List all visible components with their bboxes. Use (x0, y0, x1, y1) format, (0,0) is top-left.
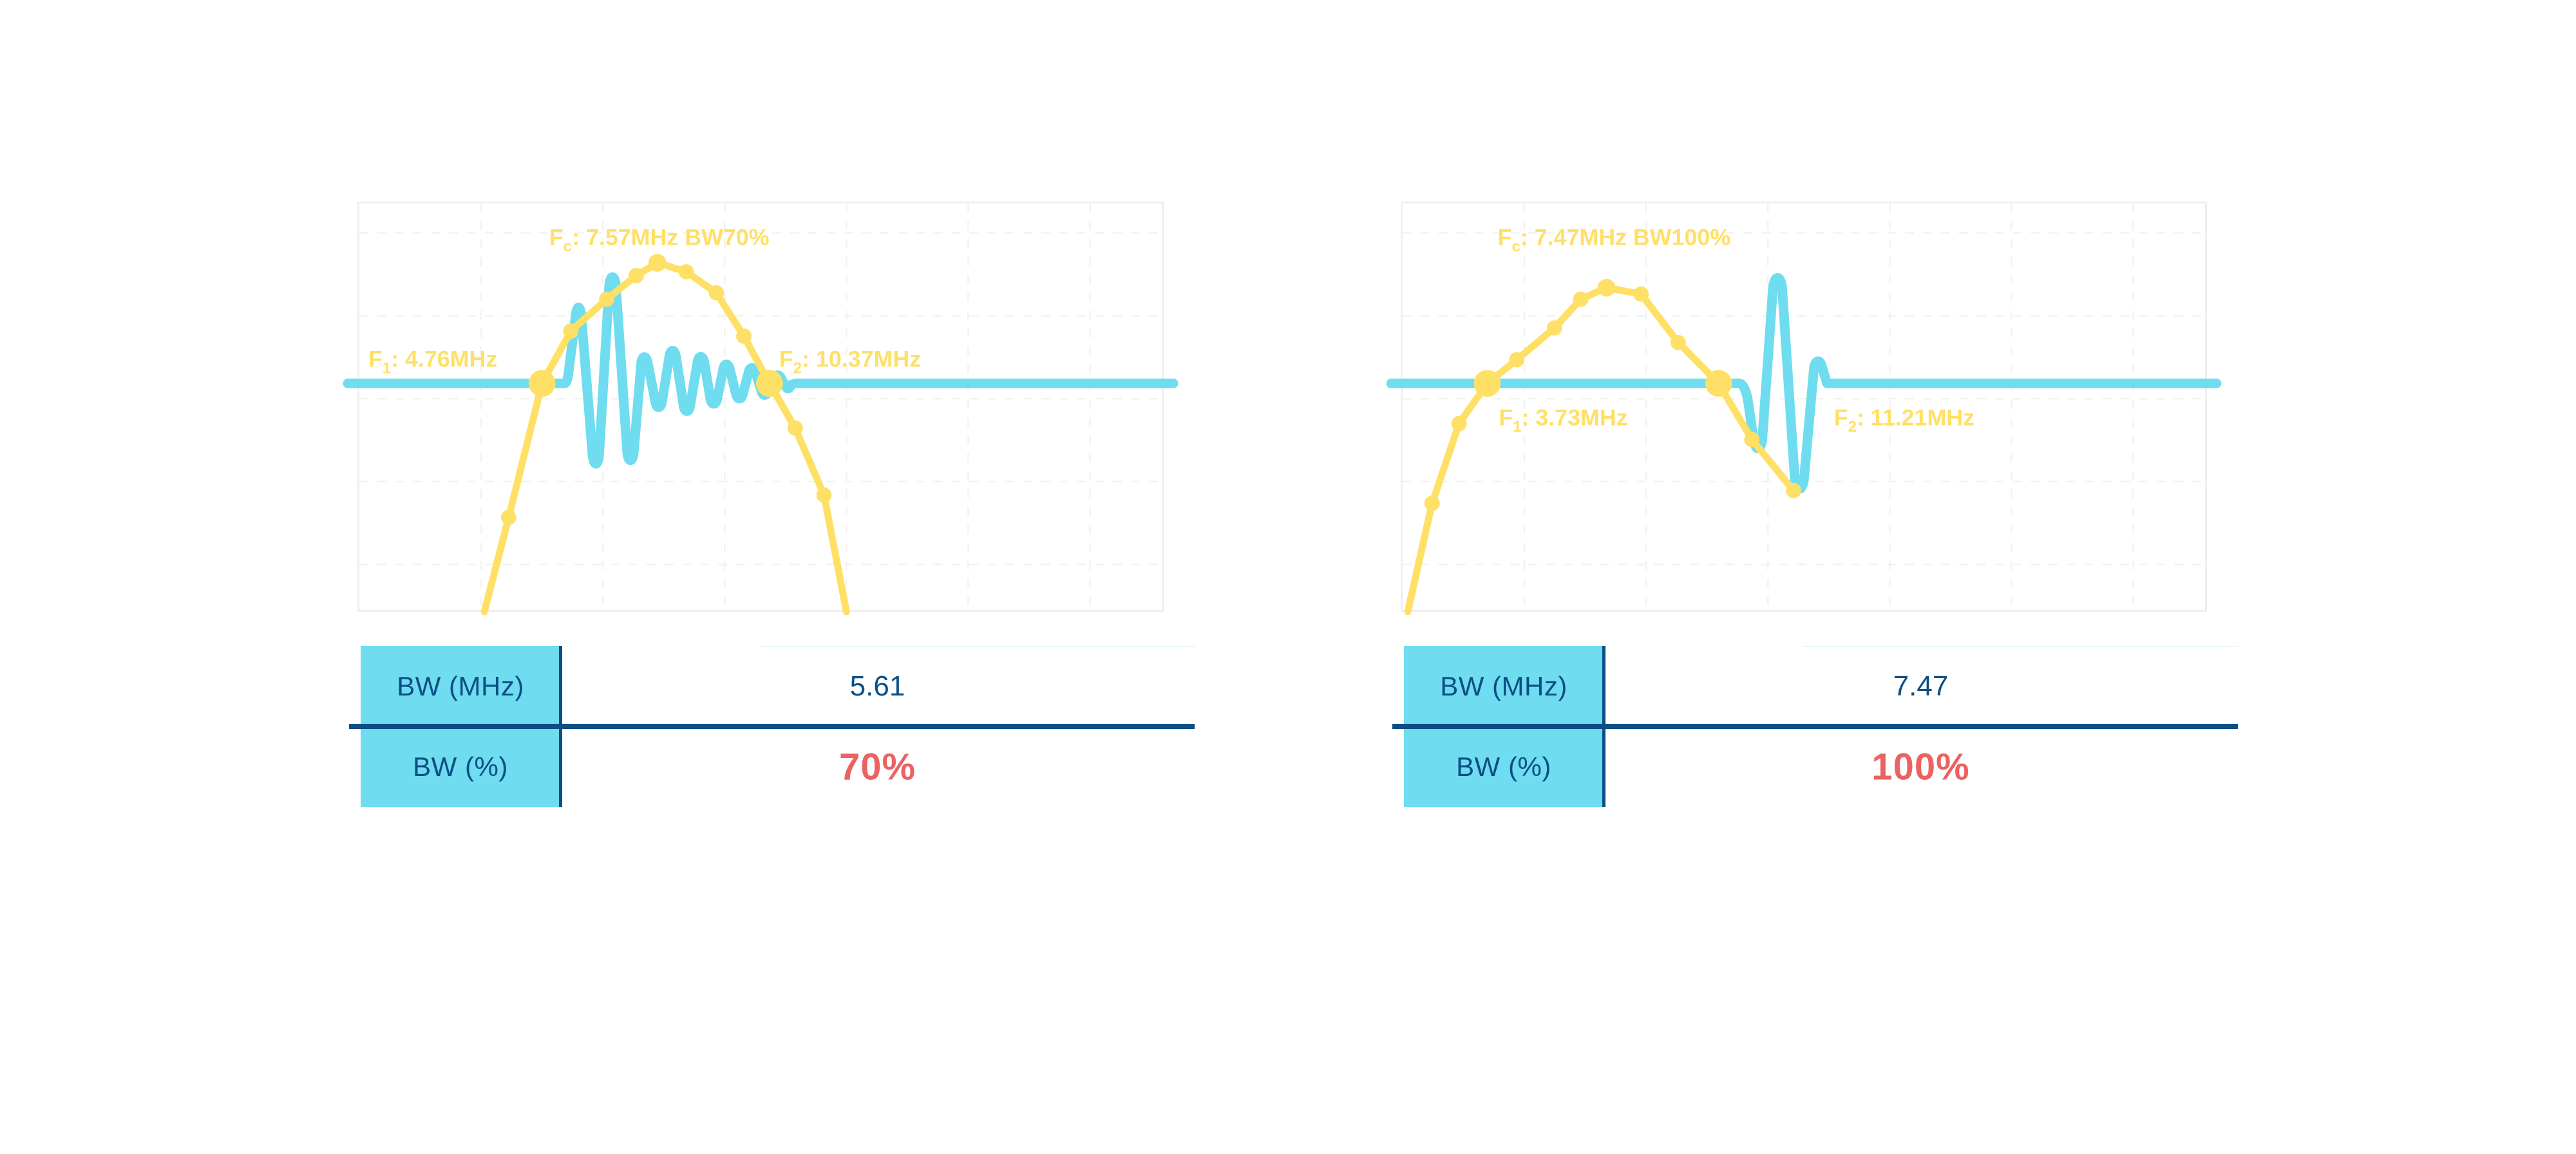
label-f2-right-sub: 2 (1848, 419, 1857, 436)
table-row-divider (1392, 724, 2238, 729)
label-f1-left-sub: 1 (383, 360, 391, 377)
chart-group-right: Fc: 7.47MHz BW100% F1: 3.73MHz F2: 11.21… (1391, 0, 2228, 1154)
marker-f2-left (756, 370, 783, 397)
waveform-trace-right (1391, 278, 2217, 489)
table-top-hairline (1803, 646, 2238, 647)
table-key-label: BW (%) (1404, 752, 1604, 782)
chart-group-left: Fc: 7.57MHz BW70% F1: 4.76MHz F2: 10.37M… (348, 0, 1185, 1154)
label-fc-right-sub: c (1511, 238, 1520, 255)
chart-panel-left: Fc: 7.57MHz BW70% F1: 4.76MHz F2: 10.37M… (357, 202, 1164, 612)
label-fc-left-text: : 7.57MHz BW70% (572, 224, 770, 250)
label-fc-left-sub: c (563, 238, 572, 255)
table-value-cell: 70% (560, 726, 1195, 807)
label-f2-right: F2: 11.21MHz (1834, 405, 1975, 436)
label-f2-left-sub: 2 (793, 360, 802, 377)
table-key-label: BW (%) (361, 752, 560, 782)
label-f1-right-prefix: F (1499, 405, 1513, 431)
label-f2-left-prefix: F (779, 346, 793, 372)
table-row: BW (MHz) 5.61 (361, 646, 1195, 726)
marker-f1-left (529, 370, 556, 397)
bw-table-right: BW (MHz) 7.47 BW (%) 100% (1404, 646, 2238, 807)
figure-canvas: Fc: 7.57MHz BW70% F1: 4.76MHz F2: 10.37M… (0, 0, 2576, 1154)
table-row: BW (MHz) 7.47 (1404, 646, 2238, 726)
table-value-cell: 7.47 (1604, 646, 2238, 726)
bw-table-left: BW (MHz) 5.61 BW (%) 70% (361, 646, 1195, 807)
label-fc-left-prefix: F (549, 224, 563, 250)
table-key-cell: BW (MHz) (1404, 646, 1604, 726)
spectrum-plot-right: Fc: 7.47MHz BW100% F1: 3.73MHz F2: 11.21… (1403, 203, 2205, 610)
label-fc-right-text: : 7.47MHz BW100% (1520, 224, 1730, 250)
spectrum-trace-right (1408, 288, 1794, 612)
label-f2-left: F2: 10.37MHz (779, 346, 921, 377)
table-value-cell: 100% (1604, 726, 2238, 807)
label-fc-right: Fc: 7.47MHz BW100% (1498, 224, 1731, 255)
table-key-cell: BW (MHz) (361, 646, 560, 726)
label-f1-left: F1: 4.76MHz (368, 346, 497, 377)
table-value-label: 5.61 (560, 670, 1195, 703)
table-value-label: 7.47 (1604, 670, 2238, 703)
table-value-label: 70% (560, 745, 1195, 788)
label-f1-right-text: : 3.73MHz (1521, 405, 1627, 431)
table-row: BW (%) 100% (1404, 726, 2238, 807)
spectrum-plot-left: Fc: 7.57MHz BW70% F1: 4.76MHz F2: 10.37M… (359, 203, 1162, 610)
table-row: BW (%) 70% (361, 726, 1195, 807)
marker-f1-right (1473, 370, 1501, 397)
table-key-label: BW (MHz) (1404, 671, 1604, 702)
label-f1-right-sub: 1 (1513, 419, 1521, 436)
marker-f2-right (1705, 370, 1732, 397)
table-value-cell: 5.61 (560, 646, 1195, 726)
table-row-divider (349, 724, 1195, 729)
label-fc-left: Fc: 7.57MHz BW70% (549, 224, 770, 255)
label-f1-left-prefix: F (368, 346, 383, 372)
label-f2-right-text: : 11.21MHz (1857, 405, 1975, 431)
label-f2-right-prefix: F (1834, 405, 1848, 431)
table-key-label: BW (MHz) (361, 671, 560, 702)
label-f1-right: F1: 3.73MHz (1499, 405, 1627, 436)
table-key-cell: BW (%) (361, 726, 560, 807)
grid-lines (359, 203, 1162, 610)
label-f2-left-text: : 10.37MHz (802, 346, 921, 372)
table-value-label: 100% (1604, 745, 2238, 788)
label-f1-left-text: : 4.76MHz (391, 346, 497, 372)
table-top-hairline (760, 646, 1195, 647)
table-key-cell: BW (%) (1404, 726, 1604, 807)
label-fc-right-prefix: F (1498, 224, 1512, 250)
chart-panel-right: Fc: 7.47MHz BW100% F1: 3.73MHz F2: 11.21… (1401, 202, 2207, 612)
